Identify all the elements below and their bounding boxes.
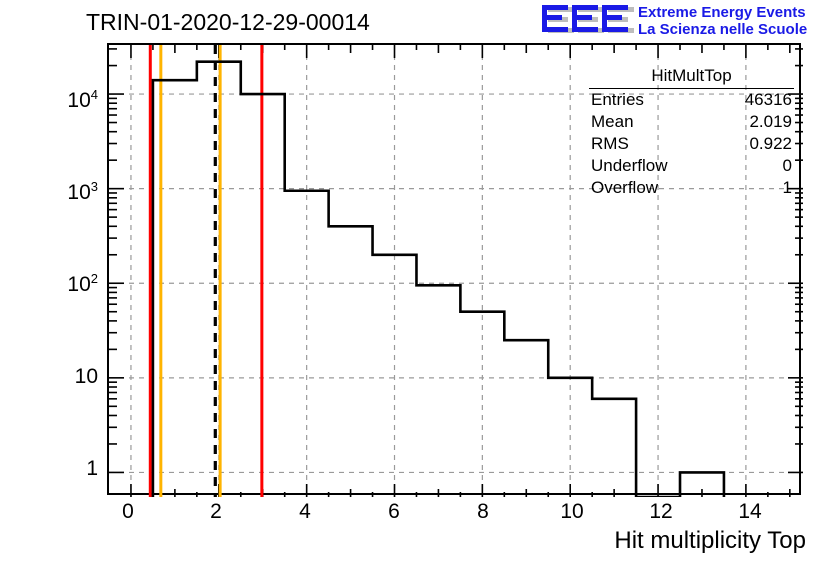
stats-row-value: 1 <box>783 177 792 199</box>
x-axis-tick-label: 12 <box>631 500 691 524</box>
x-axis-tick-label: 8 <box>453 500 513 524</box>
chart-root: TRIN-01-2020-12-29-00014 <box>0 0 836 572</box>
x-axis-tick-label: 0 <box>98 500 158 524</box>
marker-lines <box>150 45 262 497</box>
stats-box-row: Underflow0 <box>589 155 794 177</box>
eee-logo: Extreme Energy Events La Scienza nelle S… <box>540 2 836 42</box>
eee-logo-mark-icon <box>540 3 636 37</box>
stats-box-row: Entries46316 <box>589 89 794 111</box>
stats-row-value: 2.019 <box>749 111 792 133</box>
y-axis-tick-label: 103 <box>0 181 98 205</box>
x-axis-tick-label: 14 <box>720 500 780 524</box>
stats-box-title: HitMultTop <box>589 66 794 89</box>
x-axis-tick-label: 10 <box>542 500 602 524</box>
x-axis-tick-label: 4 <box>275 500 335 524</box>
x-axis-title: Hit multiplicity Top <box>614 527 806 555</box>
stats-row-label: Overflow <box>591 177 658 199</box>
y-axis-tick-label: 104 <box>0 89 98 113</box>
x-axis-tick-label: 6 <box>364 500 424 524</box>
page-title: TRIN-01-2020-12-29-00014 <box>86 9 370 36</box>
x-axis-tick-label: 2 <box>186 500 246 524</box>
stats-box-row: Overflow1 <box>589 177 794 199</box>
stats-row-label: Underflow <box>591 155 668 177</box>
y-axis-tick-label: 102 <box>0 273 98 297</box>
stats-box-row: RMS0.922 <box>589 133 794 155</box>
stats-row-label: Entries <box>591 89 644 111</box>
stats-row-value: 0.922 <box>749 133 792 155</box>
eee-logo-text: Extreme Energy Events La Scienza nelle S… <box>638 4 836 38</box>
stats-box: HitMultTop Entries46316Mean2.019RMS0.922… <box>589 66 794 199</box>
stats-row-value: 46316 <box>745 89 792 111</box>
y-axis-tick-label: 1 <box>0 457 98 481</box>
stats-row-label: Mean <box>591 111 634 133</box>
stats-row-value: 0 <box>783 155 792 177</box>
eee-logo-line2: La Scienza nelle Scuole <box>638 21 836 38</box>
stats-box-rows: Entries46316Mean2.019RMS0.922Underflow0O… <box>589 89 794 199</box>
stats-row-label: RMS <box>591 133 629 155</box>
y-axis-tick-label: 10 <box>0 365 98 389</box>
stats-box-row: Mean2.019 <box>589 111 794 133</box>
eee-logo-line1: Extreme Energy Events <box>638 4 836 21</box>
